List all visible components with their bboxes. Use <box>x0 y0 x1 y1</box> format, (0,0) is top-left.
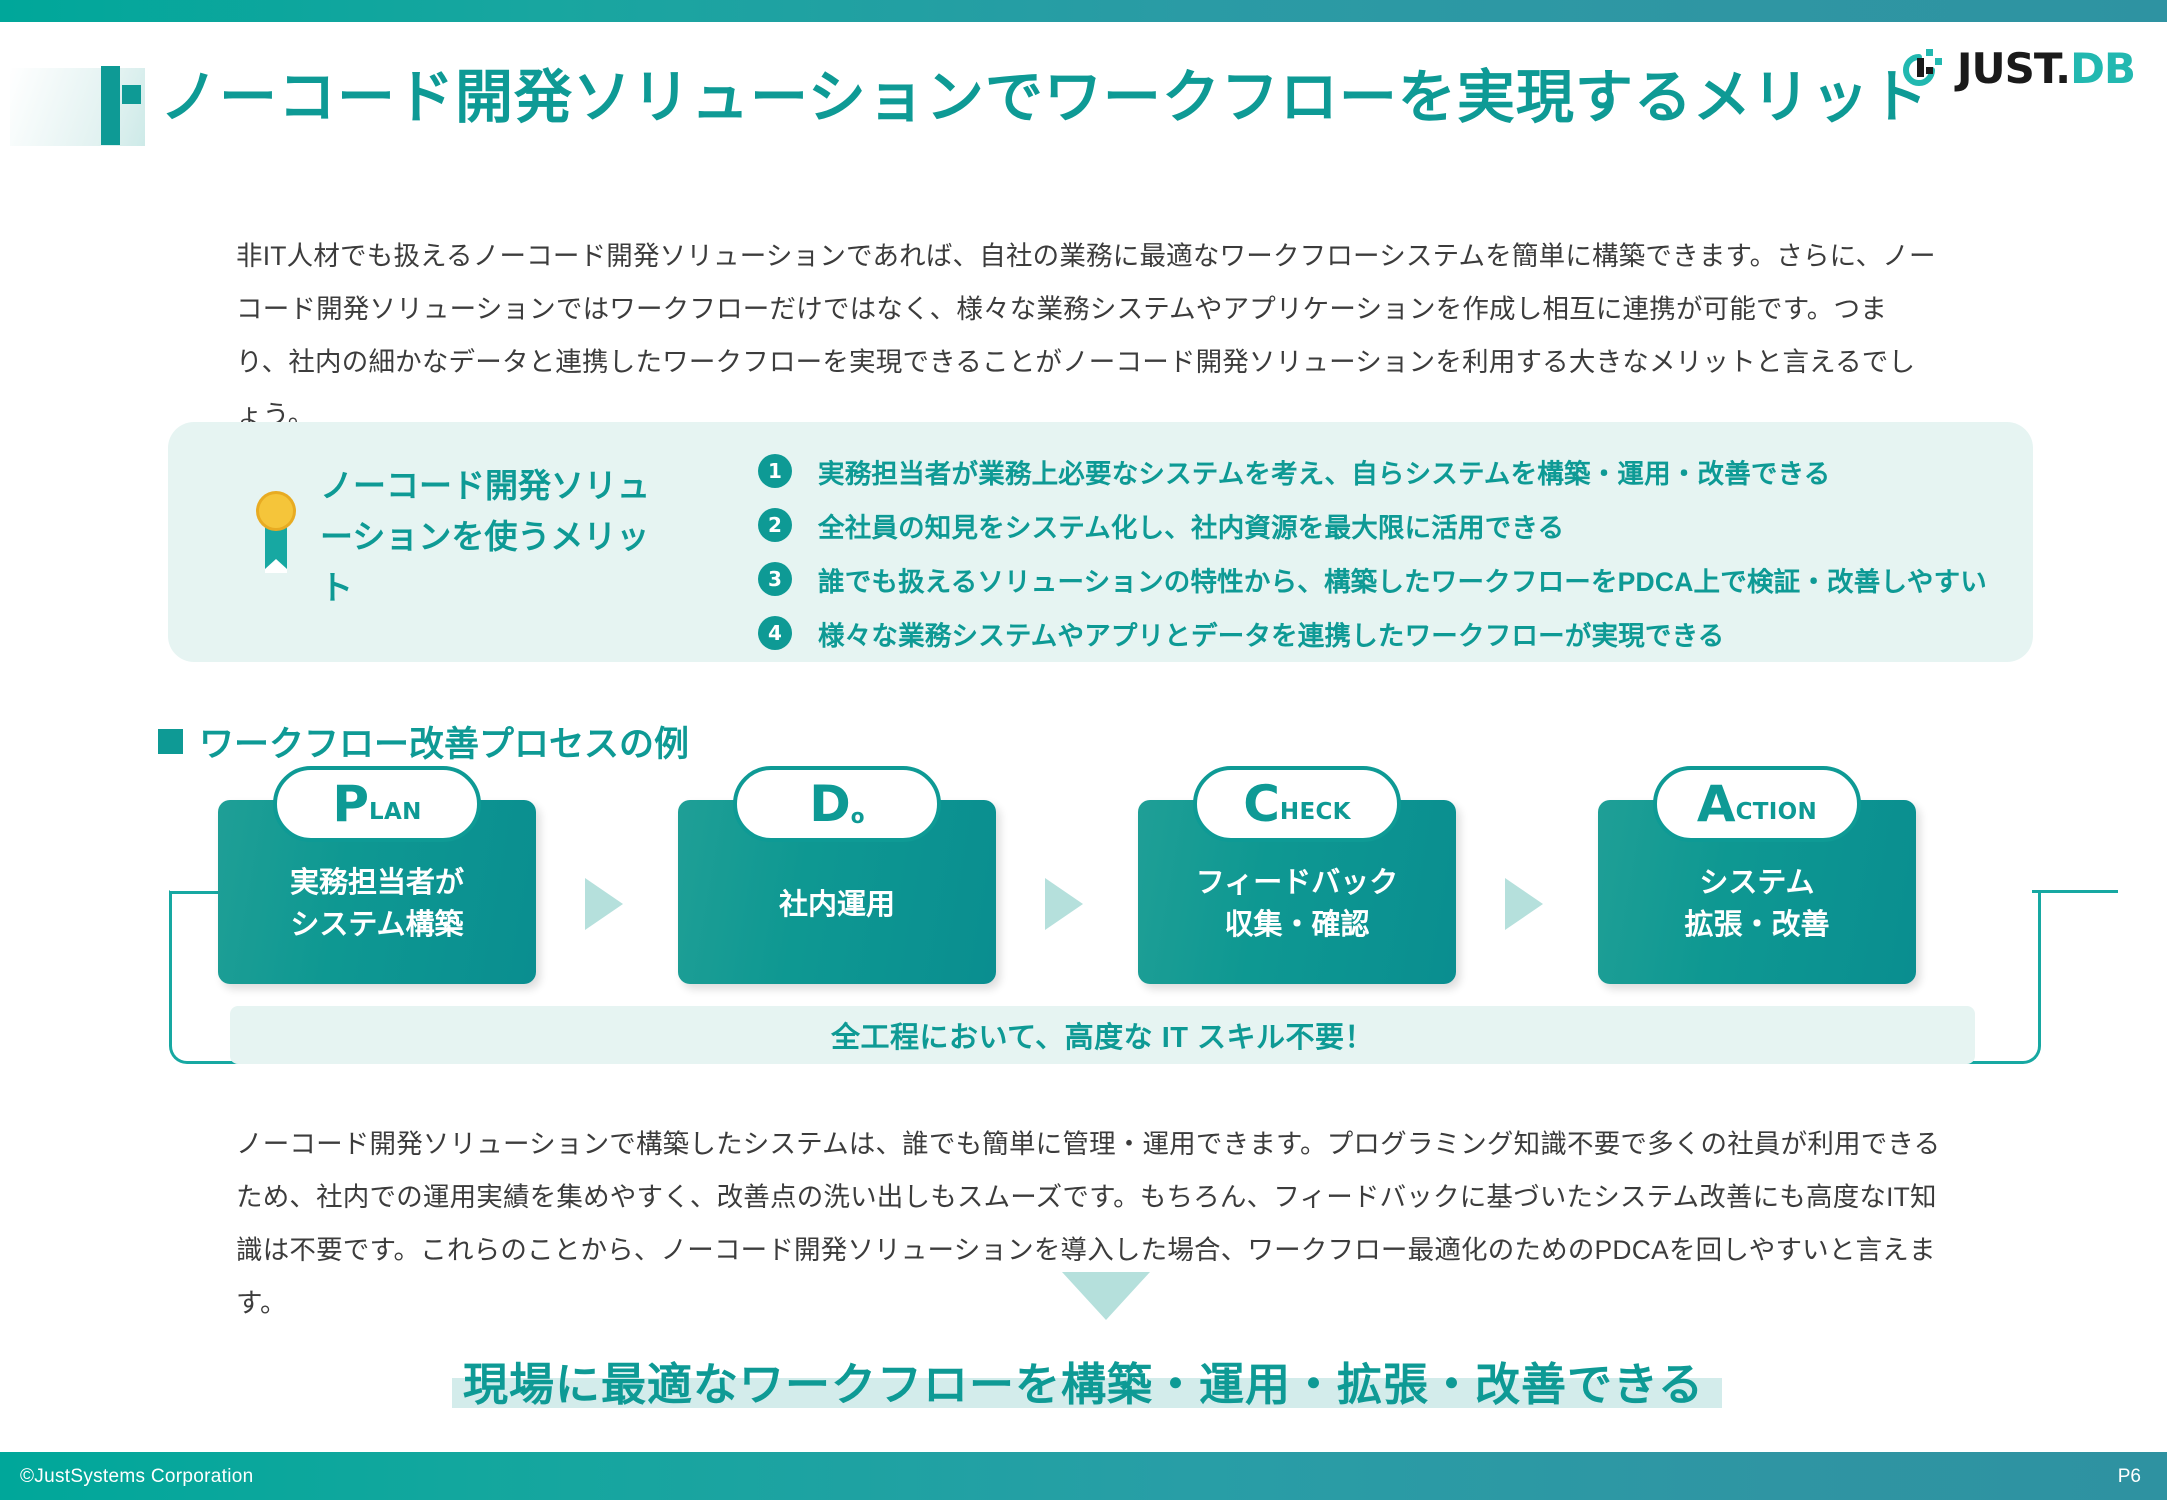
skill-note-band: 全工程において、高度な IT スキル不要！ <box>230 1006 1975 1064</box>
justdb-mark-icon <box>1899 45 1947 93</box>
merits-heading: ノーコード開発ソリューションを使うメリット <box>320 460 680 613</box>
top-accent-bar <box>0 0 2167 22</box>
pdca-step-label: フィードバック 収集・確認 <box>1138 862 1456 946</box>
merit-item: 1 実務担当者が業務上必要なシステムを考え、自らシステムを構築・運用・改善できる <box>758 444 2008 498</box>
merit-number-badge: 4 <box>758 616 792 650</box>
pdca-step-action: A CTION システム 拡張・改善 <box>1598 800 1916 984</box>
conclusion-text: 現場に最適なワークフローを構築・運用・拡張・改善できる <box>0 1348 2167 1413</box>
pdca-step-label: 実務担当者が システム構築 <box>218 862 536 946</box>
merit-number-badge: 1 <box>758 454 792 488</box>
pdca-step-do: D o 社内運用 <box>678 800 996 984</box>
process-section-heading-label: ワークフロー改善プロセスの例 <box>199 716 689 767</box>
pdca-cap-suffix: o <box>851 804 865 838</box>
merit-number-badge: 3 <box>758 562 792 596</box>
merits-list: 1 実務担当者が業務上必要なシステムを考え、自らシステムを構築・運用・改善できる… <box>758 444 2008 660</box>
pdca-step-label-line1: システム <box>1598 862 1916 904</box>
pdca-cap-initial: C <box>1243 781 1280 827</box>
brand-logo: JUST.DB <box>1899 44 2135 93</box>
pdca-cap-suffix: HECK <box>1280 799 1351 838</box>
pdca-step-label-line2: システム構築 <box>218 904 536 946</box>
pdca-step-cap: P LAN <box>273 766 481 842</box>
flow-arrow-icon-2 <box>1045 878 1083 930</box>
pdca-cap-initial: P <box>332 781 369 827</box>
pdca-step-label-line2: 拡張・改善 <box>1598 904 1916 946</box>
process-section-heading: ワークフロー改善プロセスの例 <box>158 716 689 767</box>
slide-page: ノーコード開発ソリューションでワークフローを実現するメリット JUST.DB 非… <box>0 0 2167 1500</box>
footer-page-number: P6 <box>2118 1466 2141 1488</box>
merit-number-badge: 2 <box>758 508 792 542</box>
merit-item-label: 全社員の知見をシステム化し、社内資源を最大限に活用できる <box>818 506 1564 545</box>
logo-text-db: DB <box>2070 44 2135 93</box>
flow-arrow-icon-3 <box>1505 878 1543 930</box>
merit-item-label: 様々な業務システムやアプリとデータを連携したワークフローが実現できる <box>818 614 1724 653</box>
merit-item-label: 誰でも扱えるソリューションの特性から、構築したワークフローをPDCA上で検証・改… <box>818 560 1987 599</box>
pdca-step-cap: A CTION <box>1653 766 1861 842</box>
down-arrow-icon <box>1062 1272 1150 1320</box>
flow-arrow-icon-1 <box>585 878 623 930</box>
title-decoration-bar-icon <box>101 66 120 145</box>
pdca-step-label: 社内運用 <box>678 884 996 926</box>
pdca-cap-suffix: CTION <box>1736 799 1817 838</box>
page-title: ノーコード開発ソリューションでワークフローを実現するメリット <box>160 50 1929 134</box>
pdca-cap-initial: D <box>809 781 851 827</box>
skill-note-label: 全工程において、高度な IT スキル不要！ <box>831 1014 1374 1056</box>
merit-item: 3 誰でも扱えるソリューションの特性から、構築したワークフローをPDCA上で検証… <box>758 552 2008 606</box>
title-decoration-glow <box>10 68 145 146</box>
bullet-square-icon <box>158 729 183 754</box>
medal-ribbon-icon <box>248 487 304 573</box>
pdca-flow: P LAN 実務担当者が システム構築 D o 社内運用 C HECK <box>160 790 2045 1070</box>
merit-item-label: 実務担当者が業務上必要なシステムを考え、自らシステムを構築・運用・改善できる <box>818 452 1830 491</box>
pdca-step-label-line2: 収集・確認 <box>1138 904 1456 946</box>
pdca-cap-initial: A <box>1697 781 1736 827</box>
pdca-step-label-line1: フィードバック <box>1138 862 1456 904</box>
pdca-step-label: システム 拡張・改善 <box>1598 862 1916 946</box>
footer-copyright: ©JustSystems Corporation <box>20 1466 253 1488</box>
pdca-cap-suffix: LAN <box>369 799 422 838</box>
pdca-step-label-line1: 実務担当者が <box>218 862 536 904</box>
merit-item: 4 様々な業務システムやアプリとデータを連携したワークフローが実現できる <box>758 606 2008 660</box>
pdca-step-plan: P LAN 実務担当者が システム構築 <box>218 800 536 984</box>
pdca-step-cap: C HECK <box>1193 766 1401 842</box>
pdca-step-check: C HECK フィードバック 収集・確認 <box>1138 800 1456 984</box>
title-decoration-square-icon <box>122 85 141 104</box>
pdca-step-label-line1: 社内運用 <box>678 884 996 926</box>
logo-text-just: JUST. <box>1957 44 2070 93</box>
logo-wordmark: JUST.DB <box>1957 44 2135 93</box>
merit-item: 2 全社員の知見をシステム化し、社内資源を最大限に活用できる <box>758 498 2008 552</box>
footer-bar <box>0 1452 2167 1500</box>
pdca-step-cap: D o <box>733 766 941 842</box>
pdca-loop-right-connector <box>2032 890 2118 893</box>
intro-paragraph: 非IT人材でも扱えるノーコード開発ソリューションであれば、自社の業務に最適なワー… <box>236 230 1936 442</box>
